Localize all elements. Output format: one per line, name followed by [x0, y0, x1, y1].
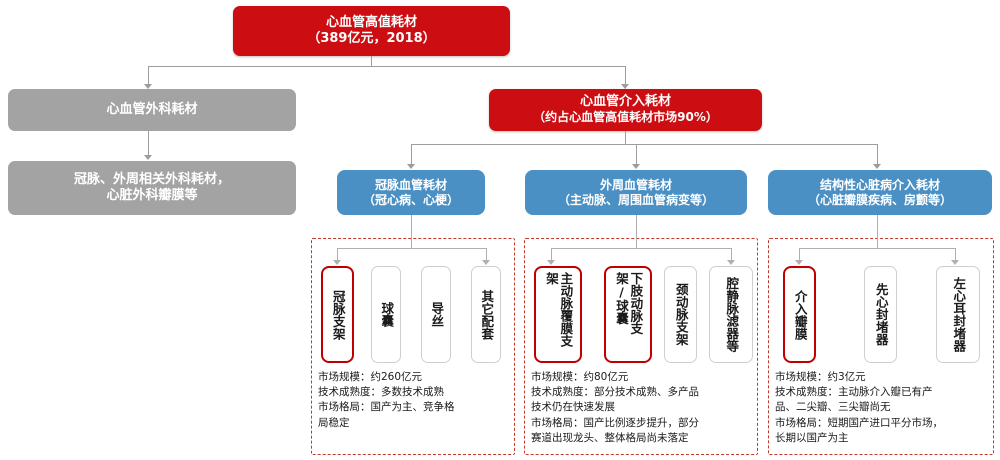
intervention-subtitle: （约占心血管高值耗材市场90%）: [533, 110, 718, 124]
product-box-0-1: 球囊: [371, 266, 401, 363]
category-node-0: 冠脉血管耗材 （冠心病、心梗）: [337, 170, 485, 215]
category-2-info-line-4: 长期以国产为主: [775, 431, 991, 446]
connector-cat1-bus: [551, 248, 731, 249]
connector-intervention-stem: [625, 131, 626, 144]
product-box-1-3: 腔静脉滤器等: [709, 266, 753, 363]
surgery-node: 心血管外科耗材: [8, 89, 296, 131]
category-2-title: 结构性心脏病介入耗材: [820, 178, 940, 192]
category-1-info: 市场规模：约80亿元 技术成熟度：部分技术成熟、多产品 技术仍在快速发展 市场格…: [531, 370, 755, 446]
arrow-to-cat-0: [407, 164, 415, 169]
intervention-node: 心血管介入耗材 （约占心血管高值耗材市场90%）: [489, 89, 762, 131]
intervention-title: 心血管介入耗材: [580, 94, 671, 109]
root-subtitle: （389亿元，2018）: [307, 31, 435, 46]
product-label-1-0: 主动脉覆膜支架: [544, 272, 573, 357]
category-0-info-line-3: 局稳定: [318, 416, 510, 431]
category-node-1: 外周血管耗材 （主动脉、周围血管病变等）: [525, 170, 747, 215]
product-box-1-2: 颈动脉支架: [664, 266, 697, 363]
product-box-2-1: 先心封堵器: [864, 266, 897, 363]
category-0-info-line-1: 技术成熟度：多数技术成熟: [318, 385, 510, 400]
product-label-2-1: 先心封堵器: [873, 283, 887, 346]
connector-cat2-bus: [799, 248, 955, 249]
product-box-2-0: 介入瓣膜: [783, 266, 816, 363]
category-0-info: 市场规模：约260亿元 技术成熟度：多数技术成熟 市场格局：国产为主、竞争格 局…: [318, 370, 510, 431]
arrow-cat1-leaf-0: [547, 260, 555, 265]
arrow-cat2-leaf-0: [795, 260, 803, 265]
category-2-info: 市场规模：约3亿元 技术成熟度：主动脉介入瓣已有产 品、二尖瓣、三尖瓣尚无 市场…: [775, 370, 991, 446]
connector-to-cat-0: [411, 144, 412, 166]
arrow-to-cat-1: [632, 164, 640, 169]
surgery-detail-node: 冠脉、外周相关外科耗材， 心脏外科瓣膜等: [8, 161, 296, 215]
arrow-cat1-leaf-3: [727, 260, 735, 265]
product-label-0-2: 导丝: [429, 302, 443, 327]
category-0-title: 冠脉血管耗材: [375, 178, 447, 192]
category-1-info-line-3: 市场格局：国产比例逐步提升，部分: [531, 416, 755, 431]
connector-level1-bus: [148, 66, 626, 67]
connector-to-cat-1: [636, 144, 637, 166]
category-0-subtitle: （冠心病、心梗）: [363, 193, 459, 207]
connector-root-stem: [371, 56, 372, 66]
product-label-1-1: 下肢动脉支架/球囊: [614, 272, 643, 357]
category-1-info-line-1: 技术成熟度：部分技术成熟、多产品: [531, 385, 755, 400]
arrow-cat0-leaf-0: [333, 260, 341, 265]
category-1-info-line-0: 市场规模：约80亿元: [531, 370, 755, 385]
category-2-info-line-3: 市场格局：短期国产进口平分市场，: [775, 416, 991, 431]
product-box-0-3: 其它配套: [471, 266, 501, 363]
connector-surgery-stem: [148, 131, 149, 157]
product-label-1-2: 颈动脉支架: [673, 283, 687, 346]
category-node-2: 结构性心脏病介入耗材 （心脏瓣膜疾病、房颤等）: [768, 170, 992, 215]
product-box-0-0: 冠脉支架: [321, 266, 354, 363]
surgery-detail-line2: 心脏外科瓣膜等: [106, 188, 197, 203]
category-0-info-line-2: 市场格局：国产为主、竞争格: [318, 400, 510, 415]
product-label-0-0: 冠脉支架: [330, 290, 344, 340]
connector-cat0-bus: [337, 248, 486, 249]
arrow-cat0-leaf-3: [482, 260, 490, 265]
category-0-info-line-0: 市场规模：约260亿元: [318, 370, 510, 385]
category-1-info-line-4: 赛道出现龙头、整体格局尚未落定: [531, 431, 755, 446]
product-box-2-2: 左心耳封堵器: [936, 266, 980, 363]
surgery-title: 心血管外科耗材: [106, 102, 197, 118]
product-box-1-0: 主动脉覆膜支架: [534, 266, 582, 363]
product-box-1-1: 下肢动脉支架/球囊: [604, 266, 652, 363]
connector-to-surgery: [148, 66, 149, 86]
product-box-0-2: 导丝: [421, 266, 451, 363]
connector-to-intervention: [625, 66, 626, 86]
connector-cat2-stem: [877, 215, 878, 248]
root-title: 心血管高值耗材: [326, 15, 417, 30]
connector-cat1-stem: [636, 215, 637, 248]
category-2-info-line-2: 品、二尖瓣、三尖瓣尚无: [775, 400, 991, 415]
product-label-1-3: 腔静脉滤器等: [724, 277, 738, 352]
arrow-to-cat-2: [873, 164, 881, 169]
category-2-subtitle: （心脏瓣膜疾病、房颤等）: [808, 193, 952, 207]
product-label-0-3: 其它配套: [479, 290, 493, 340]
arrow-cat2-leaf-2: [951, 260, 959, 265]
root-node: 心血管高值耗材 （389亿元，2018）: [233, 6, 510, 56]
category-1-info-line-2: 技术仍在快速发展: [531, 400, 755, 415]
diagram-canvas: 心血管高值耗材 （389亿元，2018） 心血管外科耗材 冠脉、外周相关外科耗材…: [0, 0, 1000, 460]
connector-level2-bus: [411, 144, 877, 145]
arrow-surgery-detail: [144, 155, 152, 160]
product-label-2-0: 介入瓣膜: [792, 290, 806, 340]
surgery-detail-line1: 冠脉、外周相关外科耗材，: [74, 172, 230, 187]
product-label-0-1: 球囊: [379, 302, 393, 327]
category-2-info-line-1: 技术成熟度：主动脉介入瓣已有产: [775, 385, 991, 400]
product-label-2-2: 左心耳封堵器: [951, 277, 965, 352]
connector-to-cat-2: [877, 144, 878, 166]
category-1-subtitle: （主动脉、周围血管病变等）: [558, 193, 714, 207]
connector-cat0-stem: [411, 215, 412, 248]
category-1-title: 外周血管耗材: [600, 178, 672, 192]
category-2-info-line-0: 市场规模：约3亿元: [775, 370, 991, 385]
